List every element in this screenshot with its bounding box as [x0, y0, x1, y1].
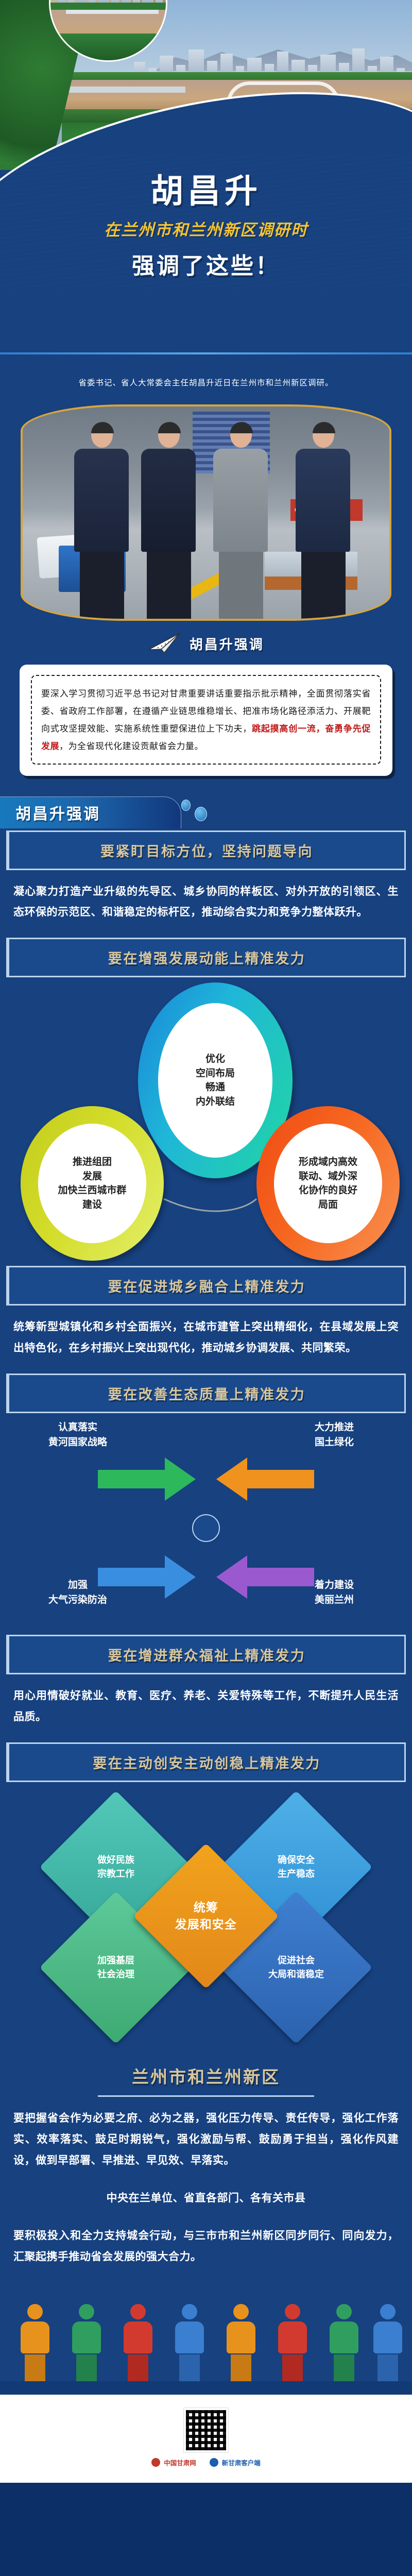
diamond-node-text: 做好民族宗教工作: [70, 1853, 162, 1881]
section-heading: 要在主动创安主动创稳上精准发力: [9, 1752, 404, 1772]
hero-emphasis-line: 强调了这些！: [0, 247, 412, 280]
people-illustration: [0, 2286, 412, 2395]
section-heading-band: 要在改善生态质量上精准发力: [6, 1374, 406, 1413]
footer: 中国甘肃网 新甘肃客户端: [0, 2395, 412, 2483]
final-paragraph: 要把握省会作为必要之府、必为之器，强化压力传导、责任传导，强化工作落实、效率落实…: [0, 2097, 412, 2177]
person-icon: [373, 2304, 402, 2381]
section-heading-band: 要在促进城乡融合上精准发力: [6, 1266, 406, 1306]
section-heading: 要在增进群众福祉上精准发力: [9, 1645, 404, 1665]
section-body: 凝心聚力打造产业升级的先导区、城乡协同的样板区、对外开放的引领区、生态环保的示范…: [0, 870, 412, 929]
circle-node-left: 推进组团发展加快兰西城市群建设: [21, 1106, 164, 1261]
person-icon: [72, 2304, 101, 2381]
final-paragraph: 要积极投入和全力支持城会行动，与三市市和兰州新区同步同行、同向发力，汇聚起携手推…: [0, 2214, 412, 2273]
logo-gansu-net[interactable]: 中国甘肃网: [151, 2458, 196, 2467]
section-heading: 要紧盯目标方位，坚持问题导向: [9, 840, 404, 860]
diamond-diagram: 做好民族宗教工作 确保安全生产稳态 加强基层社会治理 促进社会大局和谐稳定 统筹…: [0, 1782, 412, 2050]
footer-logos: 中国甘肃网 新甘肃客户端: [0, 2458, 412, 2467]
person-figure: [296, 422, 351, 619]
quote-card: 要深入学习贯彻习近平总书记对甘肃重要讲话重要指示批示精神，全面贯彻落实省委、省政…: [20, 665, 392, 776]
person-icon: [175, 2304, 204, 2381]
person-icon: [21, 2304, 49, 2381]
speaker-tag-label: 胡昌升强调: [190, 634, 264, 653]
qr-code[interactable]: [184, 2408, 228, 2452]
hero-banner: 胡昌升 在兰州市和兰州新区调研时 强调了这些！: [0, 0, 412, 361]
final-title: 兰州市和兰州新区: [0, 2050, 412, 2093]
section-header-label: 胡昌升强调: [15, 801, 100, 824]
diamond-node-text: 确保安全生产稳态: [250, 1853, 342, 1881]
paper-plane-icon: [148, 632, 181, 655]
logo-mark-icon: [210, 2458, 218, 2467]
diamond-node-text: 加强基层社会治理: [70, 1954, 162, 1981]
person-icon: [124, 2304, 152, 2381]
ground-line: [0, 2381, 412, 2395]
photo-section: CPS iBOX: [21, 404, 391, 621]
page-title: 胡昌升: [0, 174, 412, 209]
intro-paragraph: 省委书记、省人大常委会主任胡昌升近日在兰州市和兰州新区调研。: [0, 361, 412, 401]
logo-mark-icon: [151, 2458, 160, 2467]
hero-inset-circle-photo: [49, 0, 167, 62]
person-icon: [227, 2304, 255, 2381]
person-icon: [278, 2304, 307, 2381]
circle-node-text: 推进组团发展加快兰西城市群建设: [58, 1155, 126, 1212]
person-figure: [74, 422, 130, 619]
section-heading: 要在促进城乡融合上精准发力: [9, 1276, 404, 1296]
logo-xingansu-app[interactable]: 新甘肃客户端: [210, 2458, 261, 2467]
hero-divider: [0, 352, 412, 354]
section-heading-band: 要紧盯目标方位，坚持问题导向: [6, 831, 406, 870]
section-heading-band: 要在增进群众福祉上精准发力: [6, 1635, 406, 1674]
bubble-decoration: [181, 800, 191, 811]
infographic-page: 胡昌升 在兰州市和兰州新区调研时 强调了这些！ 省委书记、省人大常委会主任胡昌升…: [0, 0, 412, 2483]
circle-diagram: 优化空间布局畅通内外联结 推进组团发展加快兰西城市群建设 形成域内高效联动、域外…: [0, 977, 412, 1266]
section-header-ribbon: 胡昌升强调: [0, 796, 412, 831]
section-heading: 要在改善生态质量上精准发力: [9, 1383, 404, 1403]
arrow-shapes: [0, 1413, 412, 1635]
section-heading-band: 要在主动创安主动创稳上精准发力: [6, 1742, 406, 1782]
section-heading-band: 要在增强发展动能上精准发力: [6, 938, 406, 977]
person-icon: [330, 2304, 358, 2381]
section-heading: 要在增强发展动能上精准发力: [9, 947, 404, 968]
circle-node-text: 形成域内高效联动、域外深化协作的良好局面: [299, 1155, 357, 1212]
final-paragraph: 中央在兰单位、省直各部门、各有关市县: [0, 2177, 412, 2214]
section-body: 统筹新型城镇化和乡村全面振兴，在城市建管上突出精细化，在县域发展上突出特色化，在…: [0, 1306, 412, 1364]
circle-node-right: 形成域内高效联动、域外深化协作的良好局面: [256, 1106, 400, 1261]
diamond-node-text: 促进社会大局和谐稳定: [250, 1954, 342, 1981]
logo-left-label: 中国甘肃网: [164, 2458, 196, 2467]
diamond-center-text: 统筹发展和安全: [175, 1899, 237, 1934]
person-figure: [141, 422, 197, 619]
circle-node-text: 优化空间布局畅通内外联结: [196, 1052, 235, 1109]
quote-text: 要深入学习贯彻习近平总书记对甘肃重要讲话重要指示批示精神，全面贯彻落实省委、省政…: [41, 685, 371, 755]
person-figure: [213, 422, 269, 619]
survey-photo: CPS iBOX: [21, 404, 391, 621]
hero-title-block: 胡昌升 在兰州市和兰州新区调研时 强调了这些！: [0, 174, 412, 280]
hero-subtitle: 在兰州市和兰州新区调研时: [0, 217, 412, 240]
bubble-decoration: [195, 807, 207, 821]
logo-right-label: 新甘肃客户端: [222, 2458, 261, 2467]
quote-part-2: ，为全省现代化建设贡献省会力量。: [59, 741, 203, 751]
arrow-diagram: 认真落实黄河国家战略 大力推进国土绿化 加强大气污染防治 着力建设美丽兰州: [0, 1413, 412, 1635]
section-body: 用心用情破好就业、教育、医疗、养老、关爱特殊等工作，不断提升人民生活品质。: [0, 1674, 412, 1733]
speaker-emphasis-tag: 胡昌升强调: [21, 632, 391, 655]
flat-bridge: [67, 87, 185, 93]
